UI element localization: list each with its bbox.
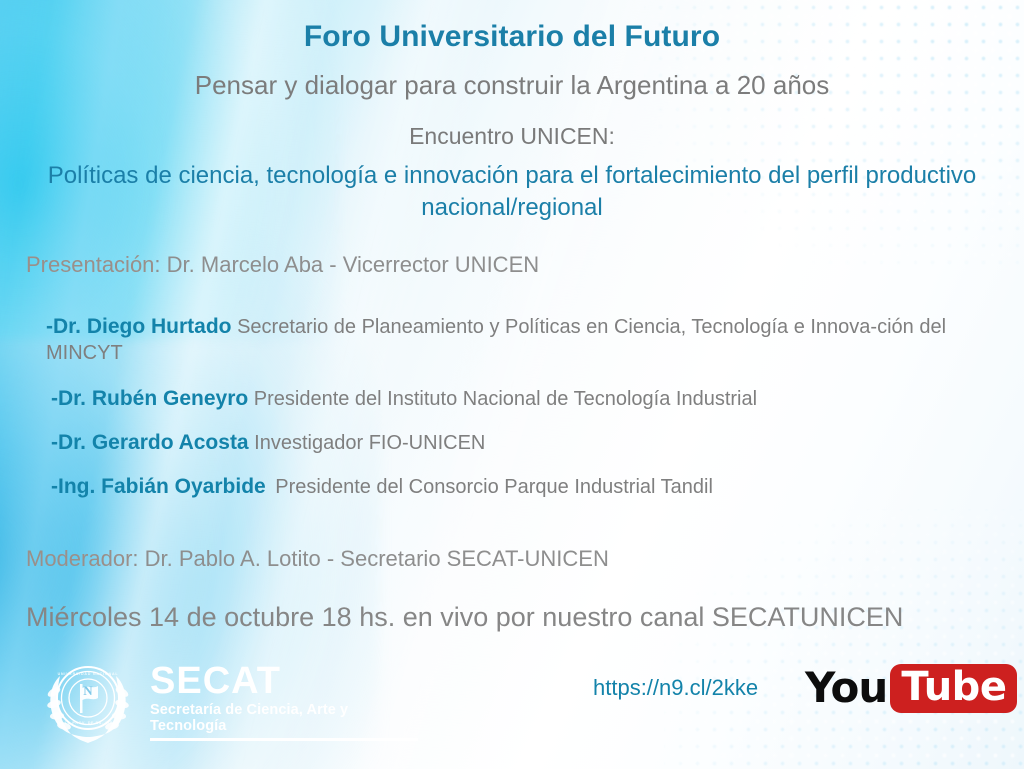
unicen-seal-icon: N UNIVERSIDAD NACIONAL DE LA PROV. DE BS… [36,648,140,752]
poster-canvas: Foro Universitario del Futuro Pensar y d… [0,0,1024,769]
presentation-separator: : [154,252,166,277]
speaker-name: -Ing. Fabián Oyarbide [51,475,266,498]
event-topic-line-1: Políticas de ciencia, tecnología e innov… [48,162,859,189]
event-topic: Políticas de ciencia, tecnología e innov… [20,160,1004,224]
list-item: -Dr. Diego Hurtado Secretario de Planeam… [46,314,998,366]
speaker-role: Investigador FIO-UNICEN [249,432,486,454]
presentation-value: Dr. Marcelo Aba - Vicerrector UNICEN [167,252,539,277]
svg-text:UNIVERSIDAD NACIONAL: UNIVERSIDAD NACIONAL [58,672,119,676]
moderator-separator: : [132,546,144,571]
svg-text:N: N [83,683,93,698]
secat-acronym: SECAT [150,662,418,700]
moderator-line: Moderador: Dr. Pablo A. Lotito - Secreta… [26,546,609,572]
presentation-label: Presentación [26,252,154,277]
youtube-you-text: You [805,667,887,709]
stream-url[interactable]: https://n9.cl/2kke [593,675,758,701]
speaker-name: -Dr. Diego Hurtado [46,315,232,338]
speaker-list: -Dr. Diego Hurtado Secretario de Planeam… [46,314,998,501]
moderator-value: Dr. Pablo A. Lotito - Secretario SECAT-U… [145,546,609,571]
secat-logo: N UNIVERSIDAD NACIONAL DE LA PROV. DE BS… [36,648,418,752]
youtube-logo[interactable]: You Tube [805,660,1017,716]
secat-wordmark: SECAT Secretaría de Ciencia, Arte y Tecn… [150,662,418,741]
speaker-role: Presidente del Consorcio Parque Industri… [270,476,713,498]
event-label: Encuentro UNICEN: [0,123,1024,150]
page-subtitle: Pensar y dialogar para construir la Arge… [0,70,1024,101]
event-datetime: Miércoles 14 de octubre 18 hs. en vivo p… [26,602,903,633]
list-item: -Dr. Gerardo Acosta Investigador FIO-UNI… [51,430,998,457]
youtube-tube-text: Tube [890,664,1017,713]
secat-full-name: Secretaría de Ciencia, Arte y Tecnología [150,702,418,741]
speaker-name: -Dr. Rubén Geneyro [51,387,248,410]
speaker-name: -Dr. Gerardo Acosta [51,431,249,454]
page-title: Foro Universitario del Futuro [0,20,1024,54]
speaker-role: Presidente del Instituto Nacional de Tec… [248,388,757,410]
list-item: -Dr. Rubén Geneyro Presidente del Instit… [51,386,998,413]
presentation-line: Presentación: Dr. Marcelo Aba - Vicerrec… [26,252,539,278]
poster-content: Foro Universitario del Futuro Pensar y d… [0,0,1024,769]
list-item: -Ing. Fabián Oyarbide Presidente del Con… [51,474,998,501]
moderator-label: Moderador [26,546,132,571]
